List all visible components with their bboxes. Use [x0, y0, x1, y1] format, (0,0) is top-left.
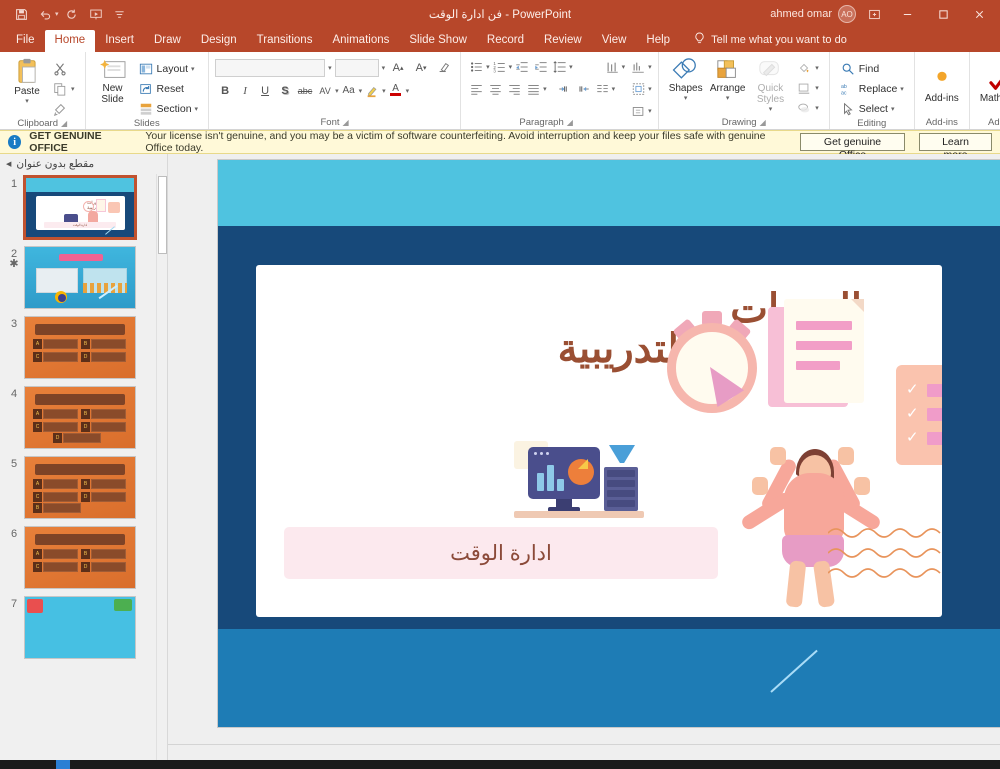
- addin-group-label: Add-in: [974, 116, 1000, 129]
- text-box-caret[interactable]: ▾: [648, 107, 652, 115]
- tab-help[interactable]: Help: [636, 30, 680, 52]
- list-item[interactable]: 7: [0, 596, 167, 659]
- font-name-input[interactable]: [215, 59, 325, 77]
- search-icon: [840, 61, 856, 77]
- lightbulb-icon: [694, 32, 705, 48]
- customize-qat-icon[interactable]: [109, 4, 131, 24]
- slide-subtitle: ادارة الوقت: [450, 541, 552, 566]
- slide-thumbnail-7[interactable]: [24, 596, 136, 659]
- drawing-dialog-launcher[interactable]: ◢: [760, 117, 766, 129]
- shape-outline-button[interactable]: ▾: [792, 78, 823, 97]
- ribbon-group-clipboard: Paste ▾ ▾: [0, 52, 85, 129]
- tab-record[interactable]: Record: [477, 30, 534, 52]
- account-name[interactable]: ahmed omar: [770, 8, 832, 20]
- reset-label: Reset: [157, 83, 184, 95]
- document-icon: [784, 299, 864, 403]
- ribbon-group-addin: MathType Add-in: [969, 52, 1000, 129]
- italic-button[interactable]: I: [235, 81, 255, 100]
- ribbon-display-options-icon[interactable]: [862, 4, 886, 24]
- taskbar: [0, 760, 1000, 769]
- ribbon-group-slides: New Slide Layout ▾ Reset: [85, 52, 209, 129]
- info-icon: i: [8, 135, 21, 149]
- replace-caret[interactable]: ▾: [900, 85, 904, 93]
- slide-subtitle-box[interactable]: ادارة الوقت: [284, 527, 718, 579]
- layout-icon: [138, 61, 154, 77]
- align-right-button[interactable]: [505, 80, 524, 98]
- list-item[interactable]: 4 A B C D D: [0, 386, 167, 449]
- section-header[interactable]: مقطع بدون عنوان ◀: [0, 154, 167, 174]
- maximize-button[interactable]: [928, 1, 958, 27]
- slide-thumbnail-4[interactable]: A B C D D: [24, 386, 136, 449]
- paragraph-group-label: Paragraph ◢: [465, 116, 627, 129]
- tell-me-placeholder: Tell me what you want to do: [711, 34, 847, 46]
- increase-indent-button[interactable]: [531, 58, 550, 76]
- columns-button[interactable]: [593, 80, 612, 98]
- list-item[interactable]: 5 A B C D B: [0, 456, 167, 519]
- wave-decoration-icon: [828, 523, 942, 585]
- checklist-icon: ✓ ✓ ✓: [896, 365, 942, 465]
- new-slide-label: New Slide: [96, 83, 130, 105]
- slide-editing-stage[interactable]: الدورات التدريبية ✓ ✓ ✓: [168, 154, 1000, 769]
- minimize-button[interactable]: [892, 1, 922, 27]
- tab-view[interactable]: View: [592, 30, 637, 52]
- shape-effects-button[interactable]: ▾: [792, 98, 823, 117]
- new-slide-button[interactable]: New Slide: [92, 56, 134, 107]
- paragraph-dialog-launcher[interactable]: ◢: [567, 117, 573, 129]
- text-alignment-button[interactable]: [629, 58, 648, 76]
- slide-number: 3: [4, 316, 24, 330]
- font-dialog-launcher[interactable]: ◢: [343, 117, 349, 129]
- font-group-label: Font ◢: [213, 116, 456, 129]
- arrange-button[interactable]: Arrange ▾: [707, 56, 749, 104]
- bullets-button[interactable]: [467, 58, 486, 76]
- quick-access-toolbar: ▾: [0, 4, 131, 24]
- section-collapse-icon[interactable]: ◀: [6, 160, 11, 168]
- section-caret[interactable]: ▾: [195, 105, 199, 113]
- scrollbar-thumb[interactable]: [158, 176, 167, 254]
- arrange-label: Arrange: [710, 83, 746, 94]
- columns-caret[interactable]: ▾: [612, 85, 616, 93]
- redo-icon[interactable]: [61, 4, 83, 24]
- arrange-caret[interactable]: ▾: [726, 94, 730, 102]
- slide-band-bottom: [218, 629, 1000, 727]
- shapes-label: Shapes: [669, 83, 703, 94]
- shapes-caret[interactable]: ▾: [684, 94, 688, 102]
- scissors-icon: [52, 61, 68, 77]
- ribbon-group-editing: Find abac Replace ▾ Select ▾: [829, 52, 914, 129]
- slides-group-label: Slides: [90, 118, 205, 130]
- clipboard-group-label: Clipboard ◢: [4, 118, 81, 130]
- tab-transitions[interactable]: Transitions: [247, 30, 323, 52]
- change-case-button[interactable]: Aa: [339, 81, 359, 100]
- tab-home[interactable]: Home: [45, 30, 96, 52]
- slide-number: 5: [4, 456, 24, 470]
- copy-icon: [52, 81, 68, 97]
- copy-caret[interactable]: ▾: [71, 85, 75, 93]
- cut-button[interactable]: [48, 59, 79, 78]
- ribbon-group-addins: Add-ins Add-ins: [914, 52, 969, 129]
- tab-insert[interactable]: Insert: [95, 30, 144, 52]
- slide-thumbnail-6[interactable]: A B C D: [24, 526, 136, 589]
- data-analytics-illustration: [514, 437, 644, 529]
- ribbon-group-paragraph: ▾ 123 ▾ ▾ ▾: [460, 52, 631, 129]
- text-box-button[interactable]: [629, 102, 648, 120]
- slide-number: 7: [4, 596, 24, 610]
- replace-icon: abac: [840, 81, 856, 97]
- convert-to-smartart-button[interactable]: [629, 80, 648, 98]
- main-area: مقطع بدون عنوان ◀ 1 الدوراتالتدريبية ادا…: [0, 154, 1000, 769]
- list-item[interactable]: 1 الدوراتالتدريبية ادارة الوقت: [0, 176, 167, 239]
- avatar[interactable]: AO: [838, 5, 856, 23]
- list-item[interactable]: 2 ✱: [0, 246, 167, 309]
- current-slide[interactable]: الدورات التدريبية ✓ ✓ ✓: [218, 160, 1000, 727]
- slide-number: 1: [4, 176, 24, 190]
- thumbnail-list[interactable]: 1 الدوراتالتدريبية ادارة الوقت 2 ✱: [0, 174, 167, 769]
- character-spacing-button[interactable]: AV: [315, 81, 335, 100]
- taskbar-app-icon: [56, 760, 70, 769]
- save-icon[interactable]: [10, 4, 32, 24]
- font-size-input[interactable]: [335, 59, 379, 77]
- section-title: مقطع بدون عنوان: [16, 158, 94, 170]
- shape-fill-button[interactable]: ▾: [792, 58, 823, 77]
- tab-design[interactable]: Design: [191, 30, 247, 52]
- decrease-indent-button[interactable]: [512, 58, 531, 76]
- mathtype-button[interactable]: MathType: [976, 66, 1000, 106]
- ribbon-group-font: ▾ ▾ A▴ A▾ B I U S abc AV ▾ Aa ▾: [208, 52, 460, 129]
- addins-button[interactable]: Add-ins: [921, 66, 963, 106]
- paste-label: Paste: [14, 86, 40, 97]
- svg-text:3: 3: [493, 69, 496, 74]
- paste-caret[interactable]: ▾: [25, 97, 29, 105]
- stopwatch-icon: [667, 311, 763, 407]
- clipboard-dialog-launcher[interactable]: ◢: [61, 118, 67, 130]
- find-button[interactable]: Find: [836, 59, 908, 78]
- font-color-button[interactable]: A: [386, 81, 406, 100]
- get-genuine-office-button[interactable]: Get genuine Office: [800, 133, 905, 151]
- tab-file[interactable]: File: [6, 30, 45, 52]
- paragraph-extra-column: ▾ ▾ ▾: [623, 52, 658, 129]
- clear-formatting-icon[interactable]: [434, 58, 454, 77]
- font-color-caret[interactable]: ▾: [406, 87, 410, 95]
- format-painter-icon: [52, 101, 68, 117]
- replace-button[interactable]: abac Replace ▾: [836, 79, 908, 98]
- font-name-caret[interactable]: ▾: [328, 64, 332, 72]
- undo-icon[interactable]: [34, 4, 56, 24]
- text-shadow-button[interactable]: S: [275, 81, 295, 100]
- layout-caret[interactable]: ▾: [191, 65, 195, 73]
- svg-text:ac: ac: [841, 90, 847, 96]
- select-button[interactable]: Select ▾: [836, 99, 908, 118]
- numbering-button[interactable]: 123: [490, 58, 509, 76]
- addins-label: Add-ins: [925, 93, 959, 104]
- tab-animations[interactable]: Animations: [322, 30, 399, 52]
- genuine-office-banner: i GET GENUINE OFFICE Your license isn't …: [0, 130, 1000, 154]
- start-slideshow-icon[interactable]: [85, 4, 107, 24]
- editing-group-label: Editing: [834, 118, 910, 130]
- close-button[interactable]: [964, 1, 994, 27]
- slide-thumbnail-1[interactable]: الدوراتالتدريبية ادارة الوقت: [24, 176, 136, 239]
- select-label: Select: [859, 103, 888, 115]
- addins-group-label: Add-ins: [919, 116, 965, 129]
- layout-label: Layout: [157, 63, 189, 75]
- section-button[interactable]: Section ▾: [134, 99, 203, 118]
- decrease-font-size-button[interactable]: A▾: [411, 58, 431, 77]
- slide-thumbnail-5[interactable]: A B C D B: [24, 456, 136, 519]
- format-painter-button[interactable]: [48, 99, 79, 118]
- line-spacing-button[interactable]: [550, 58, 569, 76]
- reset-icon: [138, 81, 154, 97]
- paste-button[interactable]: Paste ▾: [6, 56, 48, 118]
- section-label: Section: [157, 103, 192, 115]
- select-caret[interactable]: ▾: [891, 105, 895, 113]
- smartart-caret[interactable]: ▾: [648, 85, 652, 93]
- shape-effects-icon: [796, 100, 812, 116]
- increase-font-size-button[interactable]: A▴: [388, 58, 408, 77]
- ribbon-group-drawing: Shapes ▾ Arrange ▾ Quick Styles: [658, 52, 829, 129]
- justify-button[interactable]: [524, 80, 543, 98]
- animation-indicator-icon: ✱: [9, 260, 18, 269]
- slide-number: 2 ✱: [4, 246, 24, 269]
- slide-thumbnail-panel: مقطع بدون عنوان ◀ 1 الدوراتالتدريبية ادا…: [0, 154, 168, 769]
- tab-review[interactable]: Review: [534, 30, 592, 52]
- cursor-icon: [840, 101, 856, 117]
- shape-outline-icon: [796, 80, 812, 96]
- list-item[interactable]: 3 A B C D: [0, 316, 167, 379]
- thumbnail-scrollbar[interactable]: [156, 174, 167, 769]
- tab-draw[interactable]: Draw: [144, 30, 191, 52]
- learn-more-button[interactable]: Learn more: [919, 133, 992, 151]
- tab-slide-show[interactable]: Slide Show: [399, 30, 477, 52]
- quick-styles-caret[interactable]: ▾: [769, 105, 773, 113]
- reset-button[interactable]: Reset: [134, 79, 203, 98]
- notes-divider: [168, 744, 1000, 745]
- titlebar-right: ahmed omar AO: [770, 1, 1000, 27]
- tell-me-search[interactable]: Tell me what you want to do: [694, 32, 847, 52]
- mathtype-label: MathType: [980, 93, 1000, 104]
- undo-dropdown-caret[interactable]: ▾: [55, 10, 59, 18]
- align-left-button[interactable]: [467, 80, 486, 98]
- ribbon-tabs: File Home Insert Draw Design Transitions…: [0, 28, 1000, 52]
- shapes-button[interactable]: Shapes ▾: [665, 56, 707, 104]
- bold-button[interactable]: B: [215, 81, 235, 100]
- slide-number: 6: [4, 526, 24, 540]
- shape-fill-icon: [796, 60, 812, 76]
- quick-styles-label: Quick Styles: [753, 83, 789, 105]
- align-center-button[interactable]: [486, 80, 505, 98]
- ltr-direction-button[interactable]: [555, 80, 574, 98]
- section-icon: [138, 101, 154, 117]
- title-bar: ▾ فن ادارة الوقت - PowerPoint ahmed omar…: [0, 0, 1000, 28]
- underline-button[interactable]: U: [255, 81, 275, 100]
- list-item[interactable]: 6 A B C D: [0, 526, 167, 589]
- justify-caret[interactable]: ▾: [543, 85, 547, 93]
- find-label: Find: [859, 63, 879, 75]
- ribbon: Paste ▾ ▾: [0, 52, 1000, 130]
- replace-label: Replace: [859, 83, 898, 95]
- rtl-direction-button[interactable]: [574, 80, 593, 98]
- copy-button[interactable]: ▾: [48, 79, 79, 98]
- text-alignment-caret[interactable]: ▾: [648, 63, 652, 71]
- slide-content-card: الدورات التدريبية ✓ ✓ ✓: [256, 265, 942, 617]
- text-direction-button[interactable]: [603, 58, 622, 76]
- text-highlight-icon[interactable]: [362, 81, 382, 100]
- banner-title: GET GENUINE OFFICE: [29, 130, 137, 154]
- drawing-group-label: Drawing ◢: [663, 117, 825, 129]
- quick-styles-button[interactable]: Quick Styles ▾: [749, 56, 793, 115]
- slide-thumbnail-3[interactable]: A B C D: [24, 316, 136, 379]
- slide-number: 4: [4, 386, 24, 400]
- layout-button[interactable]: Layout ▾: [134, 59, 203, 78]
- banner-message: Your license isn't genuine, and you may …: [145, 130, 792, 154]
- strikethrough-button[interactable]: abc: [295, 81, 315, 100]
- slide-band-top: [218, 160, 1000, 226]
- font-size-caret[interactable]: ▾: [382, 64, 386, 72]
- line-spacing-caret[interactable]: ▾: [569, 63, 573, 71]
- svg-text:ab: ab: [841, 84, 847, 90]
- slide-thumbnail-2[interactable]: [24, 246, 136, 309]
